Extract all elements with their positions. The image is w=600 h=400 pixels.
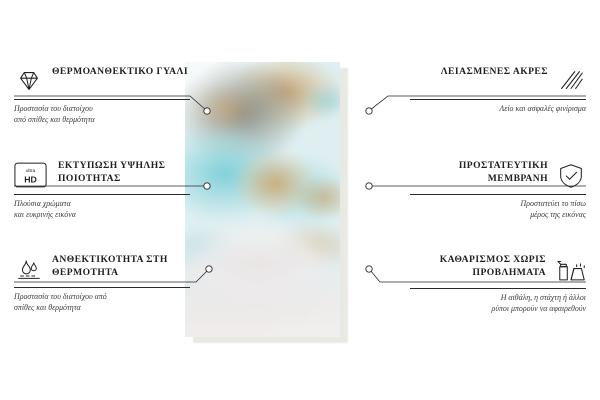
edges-icon: [556, 66, 586, 96]
infographic-canvas: ΘΕΡΜΟΑΝΘΕΚΤΙΚΟ ΓΥΑΛΙ Προστασία του διατο…: [0, 0, 600, 400]
feature-smooth-edges: ΛΕΙΑΣΜΕΝΕΣ ΑΚΡΕΣ Λείο και ασφαλές φινίρι…: [410, 66, 586, 115]
feature-desc-line1: Προστατεύει το πίσω: [410, 199, 586, 210]
anchor-dot-6: [366, 266, 372, 272]
anchor-dot-3: [206, 266, 212, 272]
feature-desc-line1: Προστασία του διατοίχου από: [14, 292, 190, 303]
spray-cloth-icon: [556, 255, 586, 285]
feature-desc-line2: μέρος της εικόνας: [410, 210, 586, 221]
svg-text:HD: HD: [24, 174, 37, 184]
anchor-dot-4: [366, 108, 372, 114]
anchor-dot-1: [204, 108, 210, 114]
svg-text:ultra: ultra: [26, 168, 36, 174]
feature-easy-cleaning: ΚΑΘΑΡΙΣΜΟΣ ΧΩΡΙΣ ΠΡΟΒΛΗΜΑΤΑ Η αιθάλη, η …: [410, 254, 586, 314]
anchor-dot-5: [366, 183, 372, 189]
feature-title: ΠΡΟΣΤΑΤΕΥΤΙΚΗ ΜΕΜΒΡΑΝΗ: [410, 160, 548, 185]
feature-protective-membrane: ΠΡΟΣΤΑΤΕΥΤΙΚΗ ΜΕΜΒΡΑΝΗ Προστατεύει το πί…: [410, 160, 586, 220]
feature-desc-line2: και ευκρινής εικόνα: [14, 210, 190, 221]
feature-title: ΚΑΘΑΡΙΣΜΟΣ ΧΩΡΙΣ ΠΡΟΒΛΗΜΑΤΑ: [410, 254, 546, 279]
feature-desc-line2: από σπίθες και θερμότητα: [14, 115, 190, 126]
feature-desc-line2: ρύποι μπορούν να αφαιρεθούν: [410, 304, 586, 315]
ultra-hd-icon: ultra HD: [14, 162, 44, 192]
feature-desc-line2: σπίθες και θερμότητα: [14, 303, 190, 314]
anchor-dot-2: [204, 183, 210, 189]
feature-tempered-glass: ΘΕΡΜΟΑΝΘΕΚΤΙΚΟ ΓΥΑΛΙ Προστασία του διατο…: [14, 66, 190, 125]
shield-icon: [556, 161, 586, 191]
feature-heat-resistance: ΑΝΘΕΚΤΙΚΟΤΗΤΑ ΣΤΗ ΘΕΡΜΟΤΗΤΑ Προστασία το…: [14, 254, 190, 313]
feature-desc-line1: Προστασία του διατοίχου: [14, 104, 190, 115]
feature-title: ΛΕΙΑΣΜΕΝΕΣ ΑΚΡΕΣ: [410, 66, 548, 79]
feature-title: ΘΕΡΜΟΑΝΘΕΚΤΙΚΟ ΓΥΑΛΙ: [52, 66, 190, 79]
feature-desc-line1: Πλούσια χρώματα: [14, 199, 190, 210]
feature-title: ΕΚΤΥΠΩΣΗ ΥΨΗΛΗΣ ΠΟΙΟΤΗΤΑΣ: [58, 160, 190, 185]
heat-drop-icon: [14, 254, 44, 284]
diamond-icon: [14, 66, 44, 96]
feature-desc-line1: Η αιθάλη, η στάχτη ή άλλοι: [410, 293, 586, 304]
feature-desc-line1: Λείο και ασφαλές φινίρισμα: [410, 104, 586, 115]
feature-hd-print: ultra HD ΕΚΤΥΠΩΣΗ ΥΨΗΛΗΣ ΠΟΙΟΤΗΤΑΣ Πλούσ…: [14, 160, 190, 220]
feature-title: ΑΝΘΕΚΤΙΚΟΤΗΤΑ ΣΤΗ ΘΕΡΜΟΤΗΤΑ: [52, 254, 190, 279]
